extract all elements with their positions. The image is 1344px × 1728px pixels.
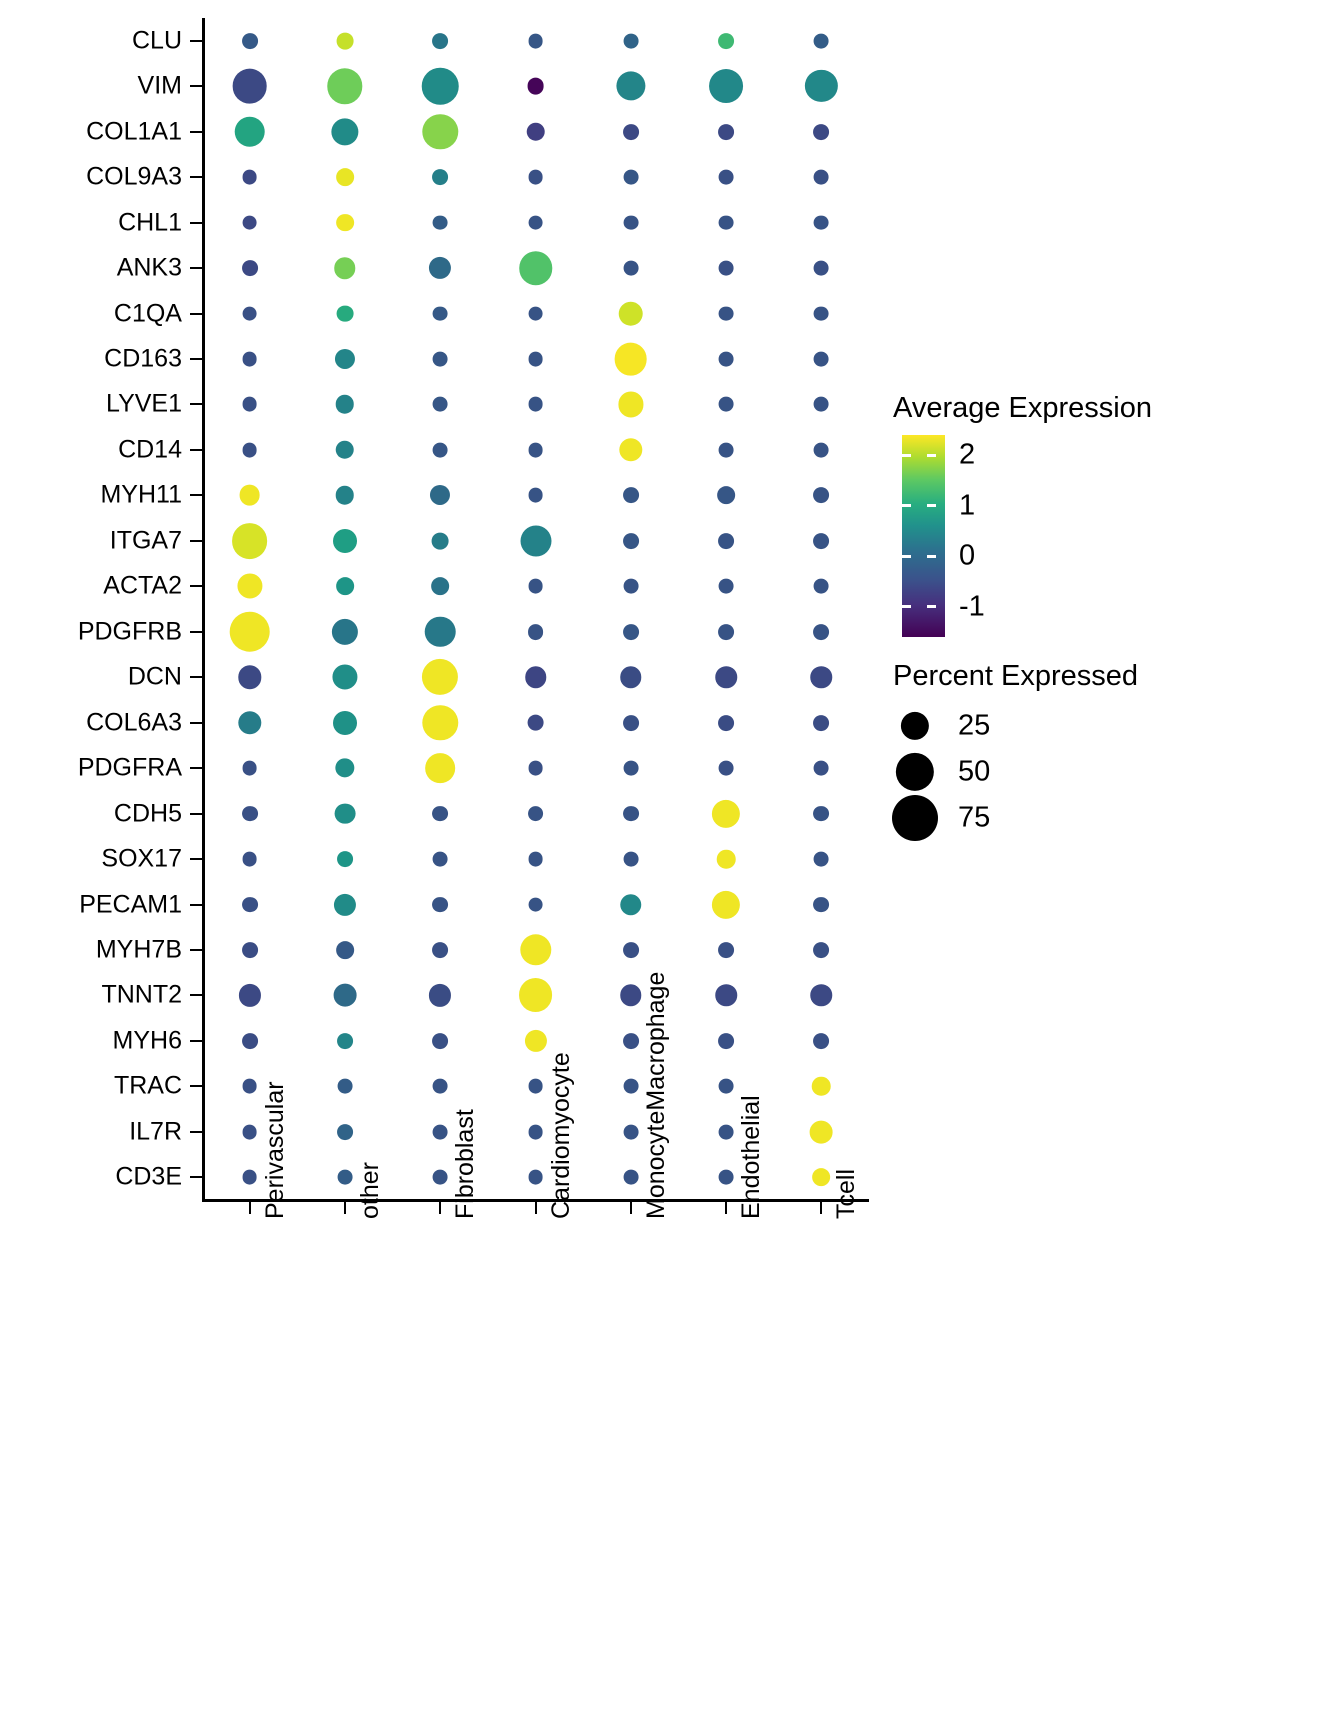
dot-col6a3-perivascular xyxy=(238,711,261,734)
dot-acta2-tcell xyxy=(814,579,829,594)
dot-pecam1-tcell xyxy=(813,897,829,913)
dot-clu-tcell xyxy=(814,33,829,48)
x-tick-mark xyxy=(820,1202,822,1214)
dot-sox17-monocytemacrophage xyxy=(623,852,638,867)
dot-lyve1-cardiomyocyte xyxy=(528,397,543,412)
y-tick-label-clu: CLU xyxy=(0,26,182,55)
dot-sox17-fibroblast xyxy=(433,852,448,867)
dot-sox17-endothelial xyxy=(717,850,736,869)
y-tick-mark xyxy=(190,267,202,269)
dot-col1a1-cardiomyocyte xyxy=(526,122,545,141)
y-tick-label-myh6: MYH6 xyxy=(0,1026,182,1055)
dot-acta2-endothelial xyxy=(719,579,734,594)
size-legend-label-50: 50 xyxy=(958,756,990,789)
dot-pecam1-other xyxy=(334,893,356,915)
dot-vim-monocytemacrophage xyxy=(616,72,645,101)
dot-pdgfra-tcell xyxy=(814,761,829,776)
y-tick-label-trac: TRAC xyxy=(0,1072,182,1101)
y-tick-mark xyxy=(190,767,202,769)
y-tick-label-c1qa: C1QA xyxy=(0,299,182,328)
y-tick-label-col9a3: COL9A3 xyxy=(0,163,182,192)
dot-cd3e-cardiomyocyte xyxy=(528,1170,543,1185)
dot-dcn-other xyxy=(332,665,357,690)
colorbar-tick-mark xyxy=(902,605,911,608)
size-legend-label-75: 75 xyxy=(958,802,990,835)
y-tick-mark xyxy=(190,722,202,724)
dot-cd14-perivascular xyxy=(242,442,257,457)
dot-cd163-other xyxy=(335,349,355,369)
colorbar-tick-label-1: 1 xyxy=(959,489,975,522)
y-tick-label-cdh5: CDH5 xyxy=(0,799,182,828)
dot-col1a1-fibroblast xyxy=(422,114,457,149)
dot-cd163-endothelial xyxy=(719,352,734,367)
dot-vim-fibroblast xyxy=(422,68,459,105)
dot-col6a3-fibroblast xyxy=(422,705,457,740)
dot-pdgfrb-cardiomyocyte xyxy=(528,624,544,640)
dot-acta2-monocytemacrophage xyxy=(623,579,638,594)
dot-lyve1-fibroblast xyxy=(433,397,448,412)
dot-dcn-monocytemacrophage xyxy=(620,666,641,687)
dot-dcn-tcell xyxy=(811,666,832,687)
dot-trac-endothelial xyxy=(719,1079,734,1094)
dot-tnnt2-monocytemacrophage xyxy=(620,985,641,1006)
y-tick-label-chl1: CHL1 xyxy=(0,208,182,237)
y-tick-mark xyxy=(190,585,202,587)
dot-ank3-cardiomyocyte xyxy=(519,251,552,284)
y-tick-mark xyxy=(190,85,202,87)
dot-pecam1-cardiomyocyte xyxy=(528,897,543,912)
dot-sox17-perivascular xyxy=(242,852,257,867)
dot-dcn-endothelial xyxy=(715,666,736,687)
y-tick-mark xyxy=(190,449,202,451)
dot-cd14-monocytemacrophage xyxy=(619,438,642,461)
dot-trac-monocytemacrophage xyxy=(623,1079,638,1094)
dot-cd3e-other xyxy=(338,1170,353,1185)
dot-pecam1-perivascular xyxy=(242,897,258,913)
y-tick-mark xyxy=(190,676,202,678)
dot-clu-perivascular xyxy=(242,33,258,49)
dot-cdh5-perivascular xyxy=(242,806,258,822)
colorbar-tick-label-2: 2 xyxy=(959,439,975,472)
dot-myh7b-other xyxy=(336,941,354,959)
dot-cd163-fibroblast xyxy=(433,352,448,367)
dot-cdh5-cardiomyocyte xyxy=(528,806,544,822)
dot-pdgfra-perivascular xyxy=(242,761,257,776)
dot-il7r-cardiomyocyte xyxy=(528,1124,543,1139)
dot-ank3-other xyxy=(334,257,355,278)
dot-il7r-fibroblast xyxy=(433,1124,448,1139)
y-tick-label-lyve1: LYVE1 xyxy=(0,390,182,419)
colorbar-tick-mark xyxy=(927,555,936,558)
dot-clu-monocytemacrophage xyxy=(623,33,638,48)
dot-col1a1-other xyxy=(331,118,358,145)
dot-il7r-tcell xyxy=(810,1120,833,1143)
dot-tnnt2-endothelial xyxy=(715,985,736,1006)
x-tick-mark xyxy=(630,1202,632,1214)
y-tick-label-cd14: CD14 xyxy=(0,435,182,464)
dot-myh7b-monocytemacrophage xyxy=(623,942,639,958)
colorbar-tick-label-0: 0 xyxy=(959,540,975,573)
dot-col9a3-perivascular xyxy=(242,170,257,185)
dot-itga7-tcell xyxy=(813,533,829,549)
size-legend: Percent Expressed 255075 xyxy=(893,660,1323,841)
dot-ank3-endothelial xyxy=(719,261,734,276)
dot-myh11-fibroblast xyxy=(430,485,450,505)
y-tick-mark xyxy=(190,131,202,133)
dot-myh6-perivascular xyxy=(242,1033,258,1049)
dot-clu-fibroblast xyxy=(432,33,448,49)
dot-myh6-fibroblast xyxy=(432,1033,448,1049)
dot-pdgfra-other xyxy=(335,758,354,777)
x-tick-mark xyxy=(439,1202,441,1214)
dot-acta2-perivascular xyxy=(237,574,262,599)
size-legend-row: 25 xyxy=(893,703,1323,749)
dot-pdgfrb-monocytemacrophage xyxy=(623,624,639,640)
y-tick-label-myh7b: MYH7B xyxy=(0,935,182,964)
dot-pecam1-endothelial xyxy=(712,890,740,918)
dot-cd163-tcell xyxy=(814,352,829,367)
y-tick-mark xyxy=(190,631,202,633)
dot-col9a3-other xyxy=(336,168,354,186)
dot-cd3e-fibroblast xyxy=(433,1170,448,1185)
y-tick-label-vim: VIM xyxy=(0,72,182,101)
size-legend-row: 75 xyxy=(893,795,1323,841)
y-tick-mark xyxy=(190,1040,202,1042)
y-tick-mark xyxy=(190,540,202,542)
dot-col6a3-monocytemacrophage xyxy=(623,715,639,731)
dot-acta2-other xyxy=(336,577,354,595)
dot-chl1-perivascular xyxy=(242,215,257,230)
dot-trac-perivascular xyxy=(242,1079,257,1094)
dot-dcn-cardiomyocyte xyxy=(525,666,546,687)
dot-c1qa-other xyxy=(337,305,354,322)
dot-cd14-fibroblast xyxy=(433,442,448,457)
plot-area xyxy=(202,18,869,1200)
y-tick-mark xyxy=(190,904,202,906)
dot-vim-other xyxy=(327,68,362,103)
y-tick-label-sox17: SOX17 xyxy=(0,845,182,874)
dot-cd163-cardiomyocyte xyxy=(528,352,543,367)
dot-cd3e-perivascular xyxy=(242,1170,257,1185)
dot-cd14-cardiomyocyte xyxy=(528,442,543,457)
dot-pdgfrb-tcell xyxy=(813,624,829,640)
dot-acta2-fibroblast xyxy=(431,577,449,595)
dot-itga7-monocytemacrophage xyxy=(623,533,639,549)
x-tick-mark xyxy=(249,1202,251,1214)
x-tick-mark xyxy=(535,1202,537,1214)
dot-cdh5-tcell xyxy=(813,806,829,822)
colorbar-tick-mark xyxy=(927,605,936,608)
size-legend-dot-25 xyxy=(901,712,929,740)
y-tick-label-itga7: ITGA7 xyxy=(0,526,182,555)
y-tick-label-myh11: MYH11 xyxy=(0,481,182,510)
dotplot-figure: CLUVIMCOL1A1COL9A3CHL1ANK3C1QACD163LYVE1… xyxy=(0,0,1344,1728)
y-tick-label-acta2: ACTA2 xyxy=(0,572,182,601)
colorbar-tick-mark xyxy=(902,555,911,558)
y-tick-mark xyxy=(190,813,202,815)
dot-myh11-monocytemacrophage xyxy=(623,487,639,503)
dot-vim-perivascular xyxy=(232,69,267,104)
dot-chl1-monocytemacrophage xyxy=(623,215,638,230)
dot-il7r-other xyxy=(337,1124,353,1140)
dot-il7r-monocytemacrophage xyxy=(623,1124,638,1139)
y-tick-label-ank3: ANK3 xyxy=(0,254,182,283)
y-tick-mark xyxy=(190,40,202,42)
dot-col6a3-cardiomyocyte xyxy=(527,714,544,731)
dot-c1qa-endothelial xyxy=(719,306,734,321)
x-tick-mark xyxy=(725,1202,727,1214)
y-tick-label-tnnt2: TNNT2 xyxy=(0,981,182,1010)
dot-lyve1-monocytemacrophage xyxy=(618,392,643,417)
dot-cd3e-monocytemacrophage xyxy=(623,1170,638,1185)
dot-chl1-endothelial xyxy=(719,215,734,230)
y-tick-label-dcn: DCN xyxy=(0,663,182,692)
dot-myh6-tcell xyxy=(813,1033,829,1049)
dot-lyve1-other xyxy=(336,395,355,414)
dot-tnnt2-fibroblast xyxy=(429,984,451,1006)
dot-col6a3-endothelial xyxy=(718,715,734,731)
dot-sox17-tcell xyxy=(814,852,829,867)
y-tick-mark xyxy=(190,176,202,178)
colorbar-block: 210-1 xyxy=(902,435,1323,643)
dot-col1a1-monocytemacrophage xyxy=(623,124,639,140)
dot-trac-other xyxy=(338,1079,353,1094)
y-tick-label-col1a1: COL1A1 xyxy=(0,117,182,146)
dot-itga7-cardiomyocyte xyxy=(520,525,551,556)
color-legend: Average Expression 210-1 xyxy=(893,392,1323,643)
dot-c1qa-monocytemacrophage xyxy=(619,301,644,326)
dot-col9a3-tcell xyxy=(814,170,829,185)
colorbar-tick-mark xyxy=(927,504,936,507)
size-legend-dot-75 xyxy=(892,795,938,841)
dot-col9a3-monocytemacrophage xyxy=(623,170,638,185)
dot-itga7-other xyxy=(333,529,357,553)
dot-cd14-tcell xyxy=(814,442,829,457)
dot-pdgfra-endothelial xyxy=(719,761,734,776)
dot-cd14-other xyxy=(336,441,355,460)
y-tick-mark xyxy=(190,358,202,360)
colorbar-tick-mark xyxy=(902,504,911,507)
dot-chl1-fibroblast xyxy=(433,215,448,230)
y-tick-label-cd3e: CD3E xyxy=(0,1163,182,1192)
dot-pdgfra-cardiomyocyte xyxy=(528,761,543,776)
dot-myh6-endothelial xyxy=(718,1033,734,1049)
dot-trac-cardiomyocyte xyxy=(528,1079,543,1094)
y-tick-label-pecam1: PECAM1 xyxy=(0,890,182,919)
dot-c1qa-fibroblast xyxy=(433,306,448,321)
y-tick-mark xyxy=(190,858,202,860)
dot-tnnt2-other xyxy=(334,984,357,1007)
dot-pecam1-monocytemacrophage xyxy=(620,894,641,915)
size-legend-label-25: 25 xyxy=(958,710,990,743)
dot-trac-tcell xyxy=(812,1077,831,1096)
dot-myh11-other xyxy=(336,486,355,505)
dot-pecam1-fibroblast xyxy=(432,897,448,913)
dot-col9a3-cardiomyocyte xyxy=(528,170,543,185)
dot-tnnt2-perivascular xyxy=(239,984,261,1006)
dot-clu-other xyxy=(337,32,354,49)
dot-myh7b-fibroblast xyxy=(432,942,448,958)
dot-col1a1-tcell xyxy=(813,124,829,140)
y-tick-mark xyxy=(190,313,202,315)
dot-tnnt2-cardiomyocyte xyxy=(519,978,553,1012)
dot-sox17-other xyxy=(337,851,353,867)
dot-itga7-perivascular xyxy=(232,523,268,559)
dot-ank3-monocytemacrophage xyxy=(623,261,638,276)
dot-cdh5-endothelial xyxy=(712,799,740,827)
size-legend-row: 50 xyxy=(893,749,1323,795)
dot-col1a1-perivascular xyxy=(234,116,265,147)
dot-myh7b-cardiomyocyte xyxy=(520,934,551,965)
dot-ank3-tcell xyxy=(814,261,829,276)
dot-dcn-fibroblast xyxy=(422,659,458,695)
dot-chl1-other xyxy=(336,214,354,232)
y-tick-mark xyxy=(190,1131,202,1133)
dot-pdgfrb-fibroblast xyxy=(425,616,456,647)
dot-itga7-endothelial xyxy=(718,533,734,549)
y-tick-mark xyxy=(190,1176,202,1178)
dot-chl1-cardiomyocyte xyxy=(528,215,543,230)
dot-col9a3-endothelial xyxy=(719,170,734,185)
dot-myh7b-tcell xyxy=(813,942,829,958)
dot-cdh5-other xyxy=(335,803,356,824)
dot-c1qa-perivascular xyxy=(242,306,257,321)
dot-tnnt2-tcell xyxy=(811,985,832,1006)
dot-vim-cardiomyocyte xyxy=(527,78,544,95)
y-tick-mark xyxy=(190,494,202,496)
dot-myh11-endothelial xyxy=(717,486,735,504)
dot-vim-tcell xyxy=(805,70,837,102)
dot-myh6-monocytemacrophage xyxy=(623,1033,639,1049)
y-tick-label-pdgfra: PDGFRA xyxy=(0,754,182,783)
dot-sox17-cardiomyocyte xyxy=(528,852,543,867)
color-legend-title: Average Expression xyxy=(893,392,1323,425)
colorbar-tick-label--1: -1 xyxy=(959,590,985,623)
dot-myh11-tcell xyxy=(813,487,829,503)
y-tick-label-pdgfrb: PDGFRB xyxy=(0,617,182,646)
y-tick-label-cd163: CD163 xyxy=(0,344,182,373)
size-legend-dot-50 xyxy=(896,753,934,791)
dot-col6a3-tcell xyxy=(813,715,829,731)
dot-col1a1-endothelial xyxy=(718,124,734,140)
y-tick-mark xyxy=(190,1085,202,1087)
dot-clu-endothelial xyxy=(718,33,734,49)
dot-trac-fibroblast xyxy=(433,1079,448,1094)
dot-cd3e-tcell xyxy=(812,1168,830,1186)
x-tick-mark xyxy=(344,1202,346,1214)
dot-vim-endothelial xyxy=(709,69,743,103)
dot-myh7b-perivascular xyxy=(242,942,258,958)
y-tick-mark xyxy=(190,949,202,951)
dot-lyve1-tcell xyxy=(814,397,829,412)
dot-acta2-cardiomyocyte xyxy=(528,579,543,594)
dot-pdgfrb-perivascular xyxy=(229,611,270,652)
dot-il7r-perivascular xyxy=(242,1124,257,1139)
dot-c1qa-tcell xyxy=(814,306,829,321)
dot-clu-cardiomyocyte xyxy=(528,33,543,48)
dot-itga7-fibroblast xyxy=(432,532,449,549)
dot-cd14-endothelial xyxy=(719,442,734,457)
dot-ank3-perivascular xyxy=(242,260,258,276)
dot-pdgfra-monocytemacrophage xyxy=(623,761,638,776)
y-tick-label-col6a3: COL6A3 xyxy=(0,708,182,737)
dot-col6a3-other xyxy=(333,711,357,735)
dot-myh11-perivascular xyxy=(239,485,260,506)
dot-chl1-tcell xyxy=(814,215,829,230)
dot-ank3-fibroblast xyxy=(429,257,451,279)
dot-c1qa-cardiomyocyte xyxy=(528,306,543,321)
y-tick-label-il7r: IL7R xyxy=(0,1117,182,1146)
dot-col9a3-fibroblast xyxy=(432,169,448,185)
dot-cd3e-endothelial xyxy=(719,1170,734,1185)
size-legend-rows: 255075 xyxy=(893,703,1323,841)
dot-myh6-other xyxy=(337,1033,353,1049)
dot-il7r-endothelial xyxy=(719,1124,734,1139)
colorbar-tick-mark xyxy=(927,454,936,457)
dot-cdh5-fibroblast xyxy=(432,806,448,822)
dot-pdgfrb-endothelial xyxy=(718,624,734,640)
dot-cd163-perivascular xyxy=(242,352,257,367)
dot-lyve1-endothelial xyxy=(719,397,734,412)
dot-myh7b-endothelial xyxy=(718,942,734,958)
dot-myh11-cardiomyocyte xyxy=(528,488,543,503)
dot-pdgfra-fibroblast xyxy=(425,753,455,783)
dot-myh6-cardiomyocyte xyxy=(524,1030,546,1052)
dot-lyve1-perivascular xyxy=(242,397,257,412)
y-tick-mark xyxy=(190,403,202,405)
dot-cdh5-monocytemacrophage xyxy=(623,806,639,822)
dot-pdgfrb-other xyxy=(332,619,358,645)
y-tick-mark xyxy=(190,994,202,996)
dot-dcn-perivascular xyxy=(238,665,261,688)
dot-cd163-monocytemacrophage xyxy=(614,343,647,376)
colorbar-tick-mark xyxy=(902,454,911,457)
size-legend-title: Percent Expressed xyxy=(893,660,1323,693)
y-tick-mark xyxy=(190,222,202,224)
